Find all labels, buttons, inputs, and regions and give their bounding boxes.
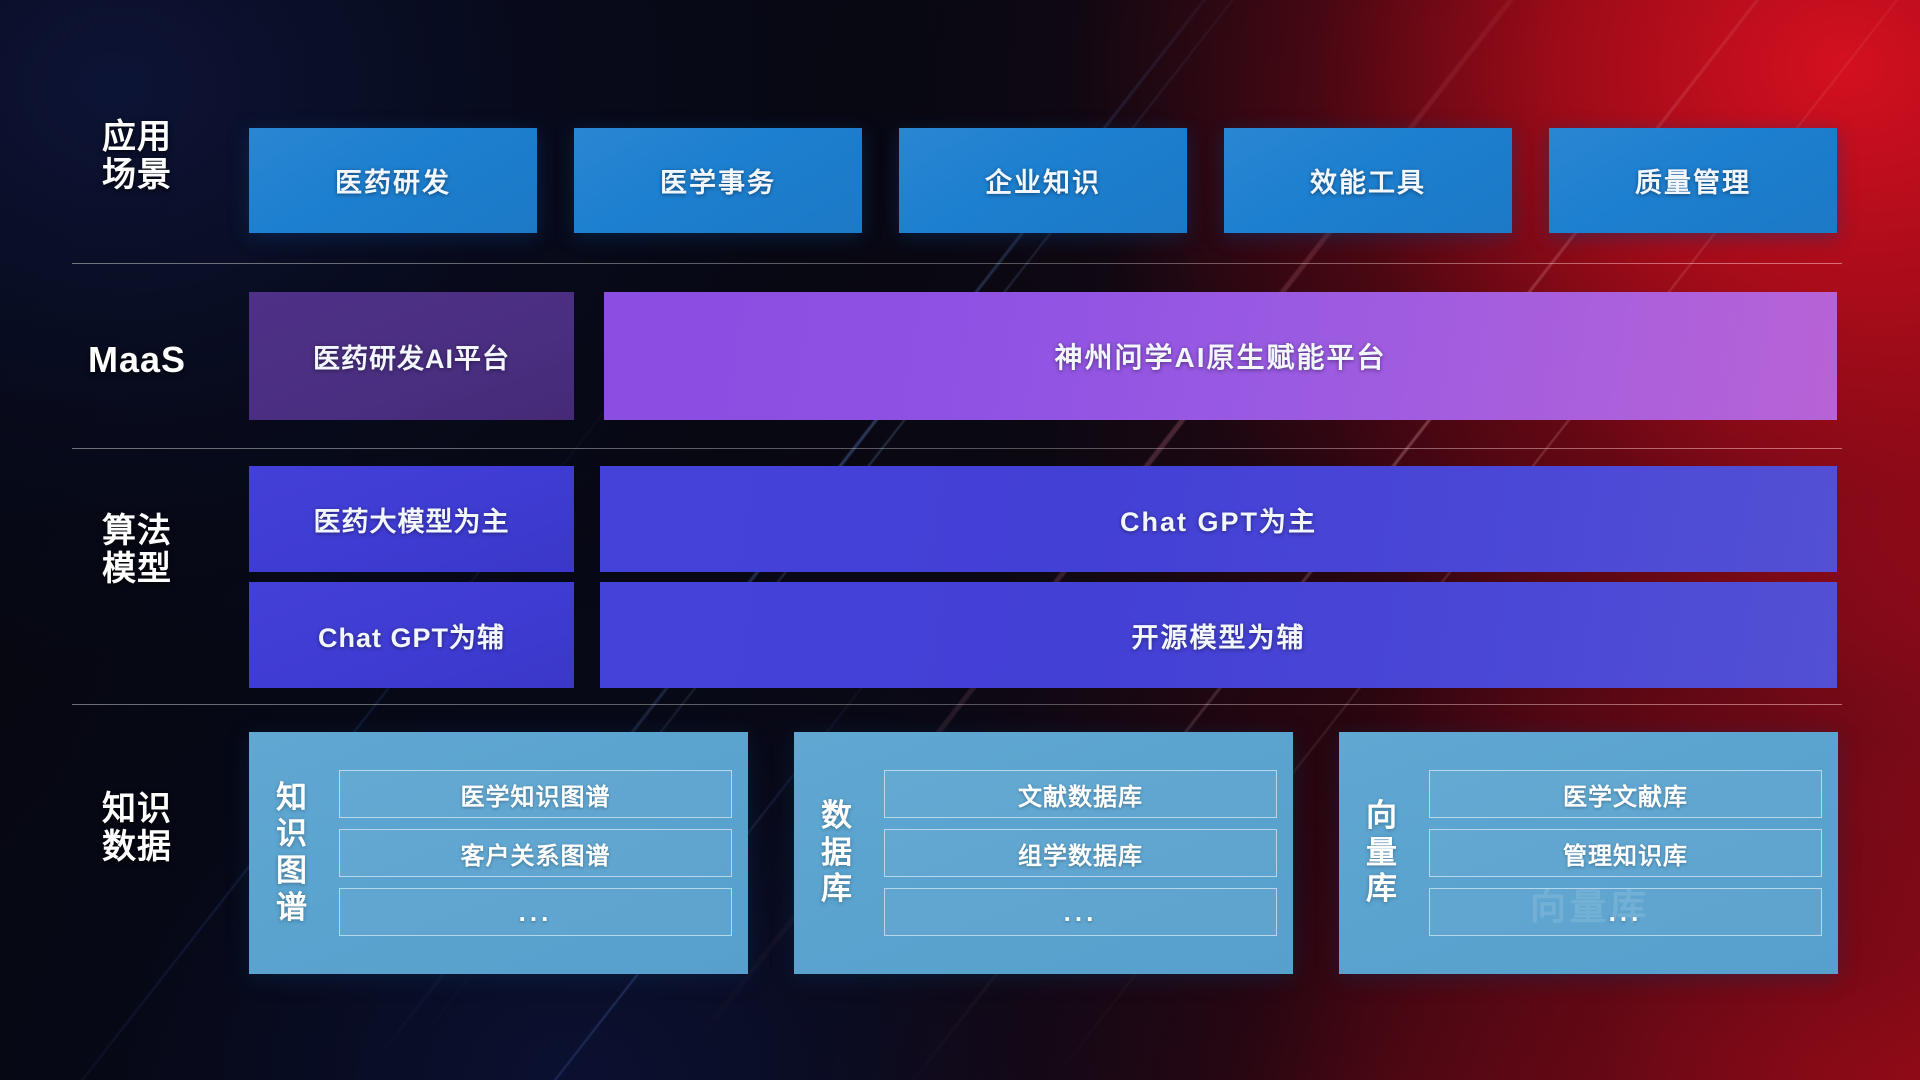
app-box-enterprise-knowledge[interactable]: 企业知识 [899,128,1187,233]
maas-box-pharma-ai-platform[interactable]: 医药研发AI平台 [249,292,574,420]
row-label-line: 应用 [72,118,202,156]
algo-box-opensource-secondary[interactable]: 开源模型为辅 [600,582,1837,688]
slide-canvas: 应用 场景 医药研发 医学事务 企业知识 效能工具 质量管理 MaaS 医药研发… [0,0,1920,1080]
knowledge-item-more[interactable]: ... [884,888,1277,936]
title-char: 量 [1366,835,1398,872]
knowledge-panel-vector-store[interactable]: 向 量 库 医学文献库 管理知识库 ... [1339,732,1838,974]
title-char: 识 [276,816,308,853]
app-box-medical-affairs[interactable]: 医学事务 [574,128,862,233]
knowledge-item-more[interactable]: ... [1429,888,1822,936]
knowledge-item-more[interactable]: ... [339,888,732,936]
title-char: 库 [1366,871,1398,908]
title-char: 谱 [276,890,308,927]
algo-box-chatgpt-secondary[interactable]: Chat GPT为辅 [249,582,574,688]
knowledge-panel-database[interactable]: 数 据 库 文献数据库 组学数据库 ... [794,732,1293,974]
row-label-application-scenarios: 应用 场景 [72,118,202,194]
knowledge-item-medical-graph[interactable]: 医学知识图谱 [339,770,732,818]
title-char: 库 [821,871,853,908]
knowledge-item-list: 文献数据库 组学数据库 ... [880,754,1293,952]
row-label-line: 知识 [72,790,202,828]
knowledge-panel-knowledge-graph[interactable]: 知 识 图 谱 医学知识图谱 客户关系图谱 ... [249,732,748,974]
row-label-algorithm-model: 算法 模型 [72,512,202,588]
knowledge-item-omics-db[interactable]: 组学数据库 [884,829,1277,877]
maas-box-shenzhou-wenxue-platform[interactable]: 神州问学AI原生赋能平台 [604,292,1837,420]
row-label-maas: MaaS [72,340,202,380]
row-label-line: 算法 [72,512,202,550]
row-separator [72,704,1842,705]
knowledge-item-list: 医学知识图谱 客户关系图谱 ... [335,754,748,952]
knowledge-panel-title: 向 量 库 [1339,798,1425,908]
knowledge-panel-title: 数 据 库 [794,798,880,908]
row-label-line: 模型 [72,550,202,588]
knowledge-item-medical-literature[interactable]: 医学文献库 [1429,770,1822,818]
knowledge-item-customer-graph[interactable]: 客户关系图谱 [339,829,732,877]
row-label-line: 数据 [72,828,202,866]
knowledge-item-literature-db[interactable]: 文献数据库 [884,770,1277,818]
title-char: 知 [276,780,308,817]
row-label-line: MaaS [72,340,202,380]
row-label-knowledge-data: 知识 数据 [72,790,202,866]
app-box-efficiency-tools[interactable]: 效能工具 [1224,128,1512,233]
title-char: 图 [276,853,308,890]
title-char: 数 [821,798,853,835]
title-char: 据 [821,835,853,872]
title-char: 向 [1366,798,1398,835]
app-box-pharma-rd[interactable]: 医药研发 [249,128,537,233]
algo-box-pharma-llm-primary[interactable]: 医药大模型为主 [249,466,574,572]
knowledge-item-management-kb[interactable]: 管理知识库 [1429,829,1822,877]
row-label-line: 场景 [72,156,202,194]
knowledge-item-list: 医学文献库 管理知识库 ... [1425,754,1838,952]
row-separator [72,263,1842,264]
row-separator [72,448,1842,449]
algo-box-chatgpt-primary[interactable]: Chat GPT为主 [600,466,1837,572]
app-box-quality-management[interactable]: 质量管理 [1549,128,1837,233]
knowledge-panel-title: 知 识 图 谱 [249,780,335,926]
